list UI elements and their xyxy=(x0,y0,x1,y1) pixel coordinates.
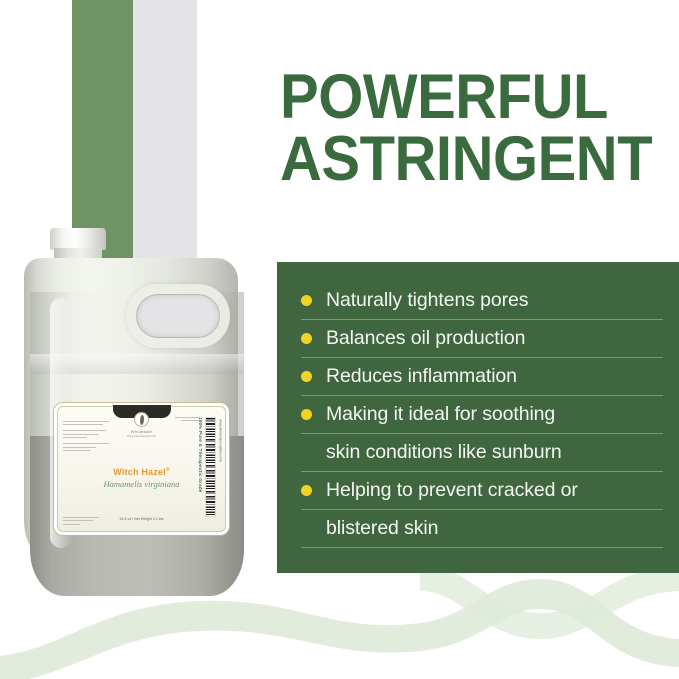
benefit-item: Balances oil production xyxy=(301,320,663,358)
bullet-dot-icon xyxy=(301,409,312,420)
bullet-dot-icon xyxy=(301,333,312,344)
bullet-dot-icon xyxy=(301,485,312,496)
headline-line-2: ASTRINGENT xyxy=(280,128,639,190)
label-left-microtext xyxy=(63,421,109,453)
product-label: Wholesale Botanicals Essential Oils xyxy=(54,403,229,535)
net-volume: 32 fl oz / Net Weight 2.1 lbs xyxy=(54,517,229,521)
benefit-item: Reduces inflammation xyxy=(301,358,663,396)
bottle-handle xyxy=(126,284,230,348)
benefit-text: skin conditions like sunburn xyxy=(326,441,562,464)
benefit-item: Helping to prevent cracked or xyxy=(301,472,663,510)
benefits-panel: Naturally tightens poresBalances oil pro… xyxy=(277,262,679,573)
benefit-item: Making it ideal for soothing xyxy=(301,396,663,434)
benefit-text: blistered skin xyxy=(326,517,438,540)
leaf-icon xyxy=(134,412,149,427)
page-title: POWERFUL ASTRINGENT xyxy=(280,66,639,190)
bottle-cap xyxy=(50,228,106,250)
label-side-claim: 100% Pure & Therapeutic Grade xyxy=(198,417,203,493)
headline-line-1: POWERFUL xyxy=(280,66,639,128)
benefit-text: Naturally tightens pores xyxy=(326,289,528,312)
benefit-item-continuation: blistered skin xyxy=(301,510,663,548)
bullet-dot-icon xyxy=(301,295,312,306)
brand-tagline: Botanicals Essential Oils xyxy=(102,435,182,438)
marketing-image-canvas: Wholesale Botanicals Essential Oils xyxy=(0,0,679,679)
barcode-icon xyxy=(205,417,216,517)
label-vertical-microtext: www.wholesalesupplies.com xyxy=(218,419,228,515)
label-right-microtext xyxy=(175,417,199,424)
benefit-item-continuation: skin conditions like sunburn xyxy=(301,434,663,472)
benefit-item: Naturally tightens pores xyxy=(301,282,663,320)
benefit-text: Reduces inflammation xyxy=(326,365,517,388)
benefit-text: Making it ideal for soothing xyxy=(326,403,555,426)
benefits-list: Naturally tightens poresBalances oil pro… xyxy=(301,282,663,548)
brand-logo: Wholesale Botanicals Essential Oils xyxy=(102,412,182,438)
brand-name: Wholesale xyxy=(102,429,182,434)
bullet-dot-icon xyxy=(301,371,312,382)
trademark-symbol: ® xyxy=(166,467,170,473)
benefit-text: Balances oil production xyxy=(326,327,525,350)
benefit-text: Helping to prevent cracked or xyxy=(326,479,578,502)
label-website: www.wholesalesupplies.com xyxy=(218,419,222,462)
product-name-text: Witch Hazel xyxy=(113,467,166,477)
product-bottle: Wholesale Botanicals Essential Oils xyxy=(18,228,244,573)
bottle-body: Wholesale Botanicals Essential Oils xyxy=(24,258,238,566)
